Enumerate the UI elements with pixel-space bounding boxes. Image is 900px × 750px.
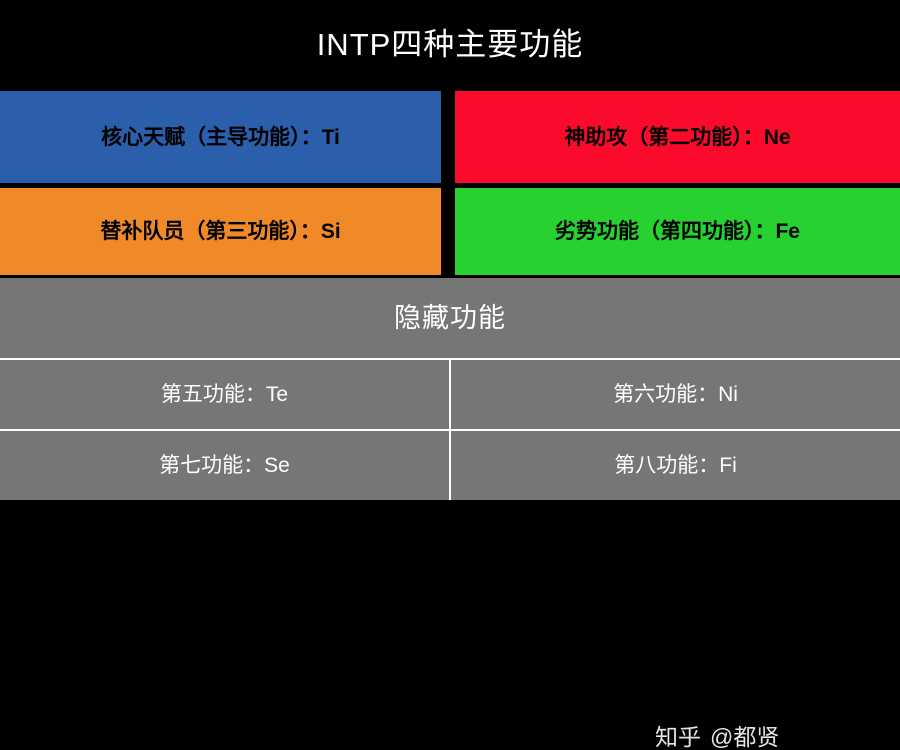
function-cell-fe[interactable]: 劣势功能（第四功能）：Fe [455, 188, 900, 275]
function-cell-ti[interactable]: 核心天赋（主导功能）：Ti [0, 91, 441, 183]
hidden-function-label-fi: 第八功能：Fi [614, 455, 737, 476]
watermark-brand: 知乎 [655, 726, 701, 749]
slide-root: INTP四种主要功能 核心天赋（主导功能）：Ti 神助攻（第二功能）：Ne 替补… [0, 0, 900, 500]
hidden-function-label-se: 第七功能：Se [159, 455, 290, 476]
function-cell-ne[interactable]: 神助攻（第二功能）：Ne [455, 91, 900, 183]
watermark-username: @都贤 [710, 726, 779, 749]
hidden-functions-title: 隐藏功能 [394, 305, 506, 332]
function-label-ne: 神助攻（第二功能）：Ne [564, 127, 790, 148]
function-cell-si[interactable]: 替补队员（第三功能）：Si [0, 188, 441, 275]
hidden-function-cell-fi[interactable]: 第八功能：Fi [451, 431, 900, 500]
function-label-si: 替补队员（第三功能）：Si [100, 221, 340, 242]
function-label-ti: 核心天赋（主导功能）：Ti [101, 127, 340, 148]
watermark: 知乎 @都贤 [655, 726, 779, 749]
function-label-fe: 劣势功能（第四功能）：Fe [555, 221, 800, 242]
hidden-functions-section: 隐藏功能 第五功能：Te 第六功能：Ni 第七功能：Se 第八功能：Fi 知乎 … [0, 278, 900, 500]
hidden-functions-grid: 第五功能：Te 第六功能：Ni 第七功能：Se 第八功能：Fi [0, 358, 900, 500]
hidden-function-cell-ni[interactable]: 第六功能：Ni [451, 360, 900, 429]
hidden-function-label-te: 第五功能：Te [161, 384, 288, 405]
page-title: INTP四种主要功能 [317, 29, 584, 60]
hidden-function-label-ni: 第六功能：Ni [613, 384, 738, 405]
title-bar: INTP四种主要功能 [0, 0, 900, 88]
hidden-function-cell-te[interactable]: 第五功能：Te [0, 360, 449, 429]
hidden-function-cell-se[interactable]: 第七功能：Se [0, 431, 449, 500]
hidden-functions-header: 隐藏功能 [0, 278, 900, 358]
main-functions-grid: 核心天赋（主导功能）：Ti 神助攻（第二功能）：Ne 替补队员（第三功能）：Si… [0, 88, 900, 278]
